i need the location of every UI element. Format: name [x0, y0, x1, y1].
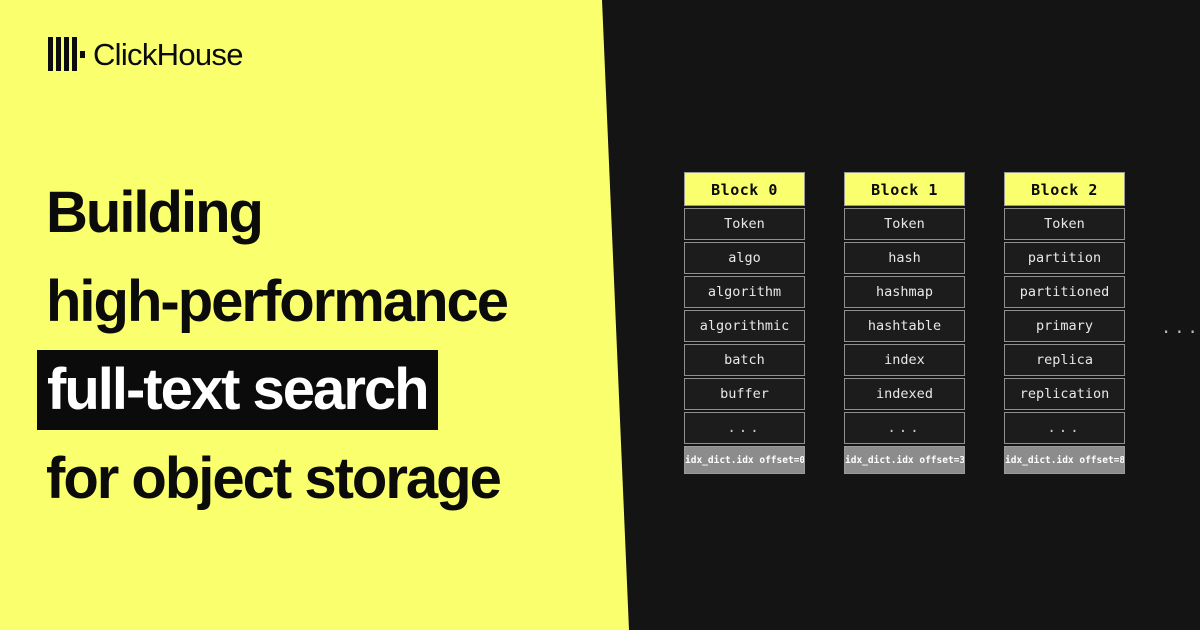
block-title: Block 0 — [684, 172, 805, 206]
block-token: primary — [1004, 310, 1125, 342]
headline-line-1: Building — [46, 168, 606, 257]
poster-canvas: ClickHouse Building high-performance ful… — [0, 0, 1200, 630]
block-title: Block 1 — [844, 172, 965, 206]
block-token: replica — [1004, 344, 1125, 376]
block-offset-footer: idx_dict.idx offset=38924 — [844, 446, 965, 474]
block-token: partition — [1004, 242, 1125, 274]
block-column-header: Token — [1004, 208, 1125, 240]
block-offset-footer: idx_dict.idx offset=81247 — [1004, 446, 1125, 474]
headline-line-3-highlighted: full-text search — [37, 350, 438, 430]
block-token: buffer — [684, 378, 805, 410]
block-token: index — [844, 344, 965, 376]
headline-row-2: high-performance — [46, 257, 606, 346]
block-token: hashtable — [844, 310, 965, 342]
headline: Building high-performance full-text sear… — [46, 168, 606, 523]
block-token: algo — [684, 242, 805, 274]
clickhouse-bars-logo-icon — [48, 37, 82, 71]
brand-name: ClickHouse — [93, 39, 243, 70]
block-token: replication — [1004, 378, 1125, 410]
block-token: batch — [684, 344, 805, 376]
block-token: hashmap — [844, 276, 965, 308]
block-more-rows: ... — [684, 412, 805, 444]
headline-row-4: for object storage — [46, 434, 606, 523]
block-card: Block 0 Token algo algorithm algorithmic… — [684, 172, 805, 474]
block-token: indexed — [844, 378, 965, 410]
block-column-header: Token — [684, 208, 805, 240]
more-blocks-ellipsis: ... — [1161, 318, 1200, 338]
block-title: Block 2 — [1004, 172, 1125, 206]
index-blocks-diagram: Block 0 Token algo algorithm algorithmic… — [640, 0, 1200, 630]
headline-line-4: for object storage — [46, 434, 606, 523]
block-card: Block 2 Token partition partitioned prim… — [1004, 172, 1125, 474]
block-more-rows: ... — [1004, 412, 1125, 444]
block-token: hash — [844, 242, 965, 274]
headline-row-3: full-text search — [46, 346, 606, 434]
block-token: algorithmic — [684, 310, 805, 342]
block-token: partitioned — [1004, 276, 1125, 308]
headline-line-2: high-performance — [46, 257, 606, 346]
headline-row-1: Building — [46, 168, 606, 257]
block-offset-footer: idx_dict.idx offset=0 — [684, 446, 805, 474]
blocks-container: Block 0 Token algo algorithm algorithmic… — [684, 172, 1125, 474]
clickhouse-logo: ClickHouse — [48, 34, 243, 74]
block-column-header: Token — [844, 208, 965, 240]
block-token: algorithm — [684, 276, 805, 308]
block-more-rows: ... — [844, 412, 965, 444]
block-card: Block 1 Token hash hashmap hashtable ind… — [844, 172, 965, 474]
